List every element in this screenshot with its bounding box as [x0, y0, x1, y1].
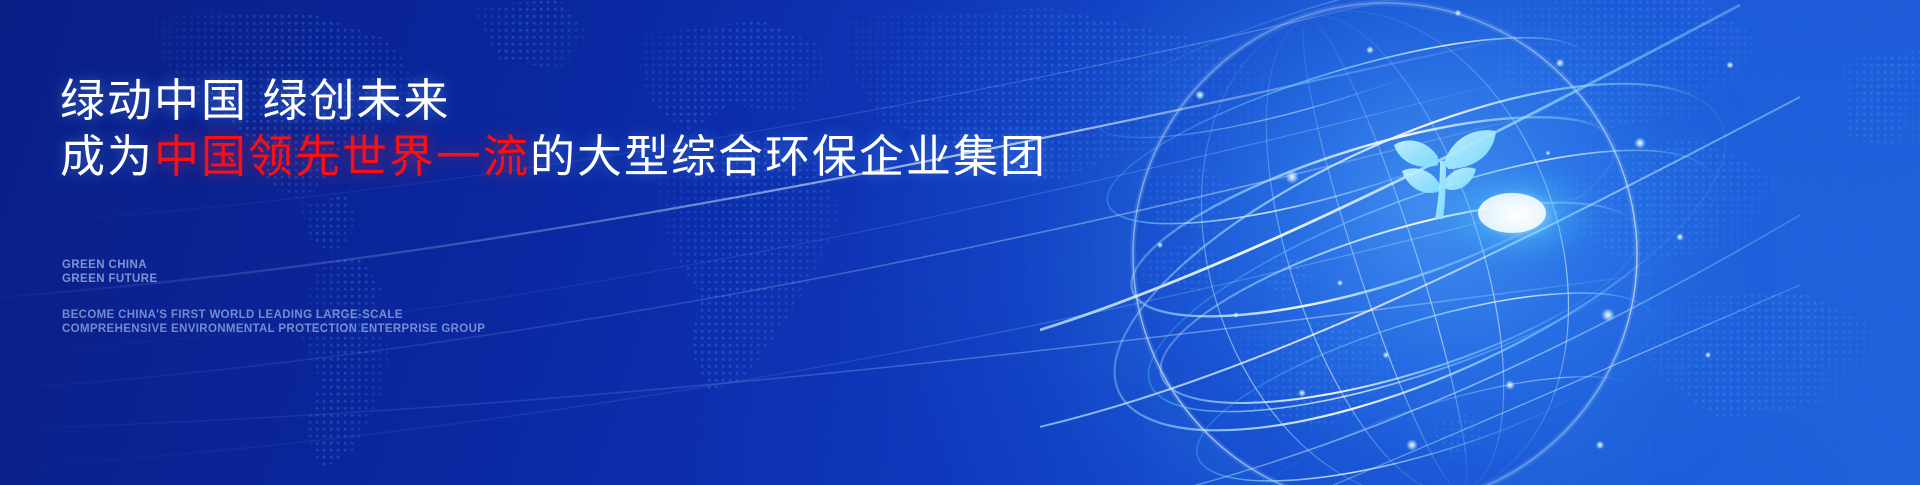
headline-line-1: 绿动中国 绿创未来: [60, 78, 451, 123]
text-content-block: 绿动中国 绿创未来 成为中国领先世界一流的大型综合环保企业集团 GREEN CH…: [60, 0, 1060, 485]
headline-prefix: 成为: [60, 131, 154, 182]
tagline-english-line-1: BECOME CHINA'S FIRST WORLD LEADING LARGE…: [62, 308, 485, 322]
subtitle-english-line-2: GREEN FUTURE: [62, 272, 158, 286]
hero-banner: 绿动中国 绿创未来 成为中国领先世界一流的大型综合环保企业集团 GREEN CH…: [0, 0, 1920, 485]
subtitle-english: GREEN CHINA GREEN FUTURE: [62, 258, 158, 286]
tagline-english: BECOME CHINA'S FIRST WORLD LEADING LARGE…: [62, 308, 485, 336]
tagline-english-line-2: COMPREHENSIVE ENVIRONMENTAL PROTECTION E…: [62, 322, 485, 336]
globe-graphic: [1040, 0, 1800, 485]
subtitle-english-line-1: GREEN CHINA: [62, 258, 158, 272]
headline-line-2: 成为中国领先世界一流的大型综合环保企业集团: [60, 134, 1047, 179]
sprout-seedling-icon: [1382, 107, 1502, 227]
globe-core-glow: [1135, 5, 1635, 485]
headline-suffix: 的大型综合环保企业集团: [530, 131, 1047, 182]
headline-accent: 中国领先世界一流: [154, 131, 530, 182]
